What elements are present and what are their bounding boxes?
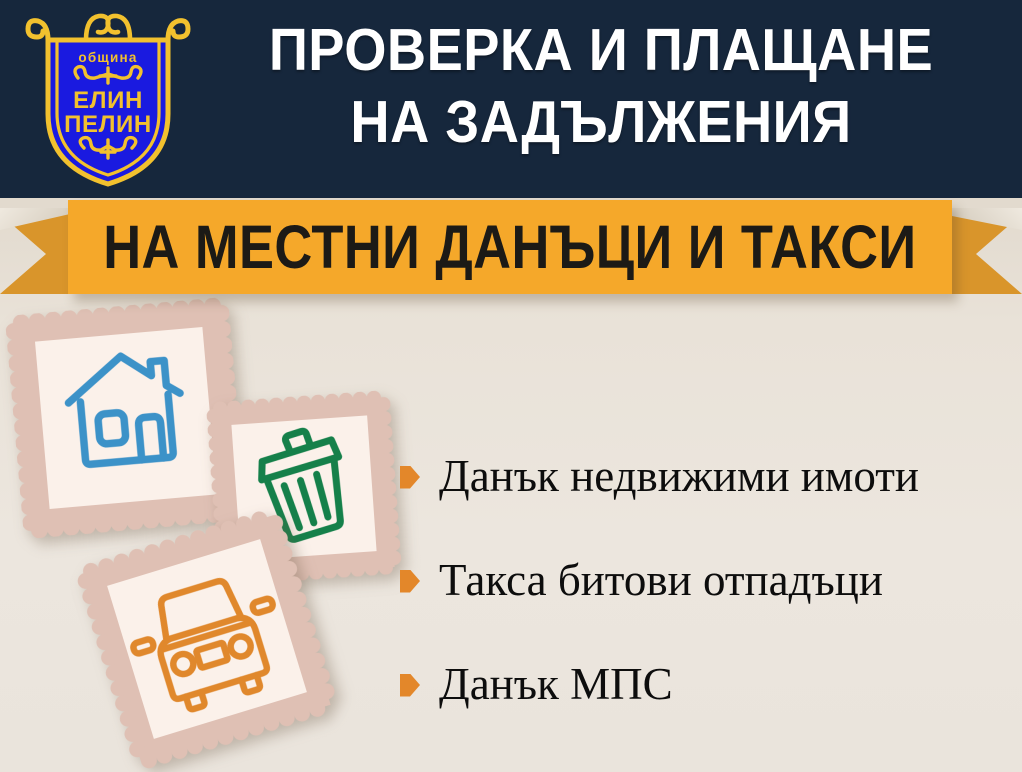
list-item[interactable]: Данък МПС: [400, 632, 1010, 736]
header-bar: община ЕЛИН ПЕЛИН: [0, 0, 1022, 198]
tax-type-list: Данък недвижими имоти Такса битови отпад…: [400, 424, 1010, 736]
crest-label-line1: ЕЛИН: [73, 87, 143, 114]
list-item[interactable]: Данък недвижими имоти: [400, 424, 1010, 528]
title-line-2: НА ЗАДЪЛЖЕНИЯ: [228, 86, 973, 158]
poster-canvas: община ЕЛИН ПЕЛИН: [0, 0, 1022, 772]
arrow-bullet-icon: [400, 674, 420, 697]
ribbon-text: НА МЕСТНИ ДАНЪЦИ И ТАКСИ: [103, 216, 916, 278]
ribbon-body: НА МЕСТНИ ДАНЪЦИ И ТАКСИ: [68, 200, 952, 294]
crest-label-line2: ПЕЛИН: [64, 111, 152, 138]
list-item-label: Такса битови отпадъци: [439, 555, 883, 605]
arrow-bullet-icon: [400, 570, 420, 593]
title-line-1: ПРОВЕРКА И ПЛАЩАНЕ: [228, 14, 973, 86]
list-item-label: Данък МПС: [439, 659, 673, 709]
ribbon-banner: НА МЕСТНИ ДАНЪЦИ И ТАКСИ: [0, 198, 1022, 302]
coat-of-arms: община ЕЛИН ПЕЛИН: [24, 8, 192, 190]
list-item[interactable]: Такса битови отпадъци: [400, 528, 1010, 632]
page-title: ПРОВЕРКА И ПЛАЩАНЕ НА ЗАДЪЛЖЕНИЯ: [196, 14, 1006, 158]
crest-label-top: община: [78, 50, 137, 65]
list-item-label: Данък недвижими имоти: [439, 451, 919, 501]
arrow-bullet-icon: [400, 466, 420, 489]
